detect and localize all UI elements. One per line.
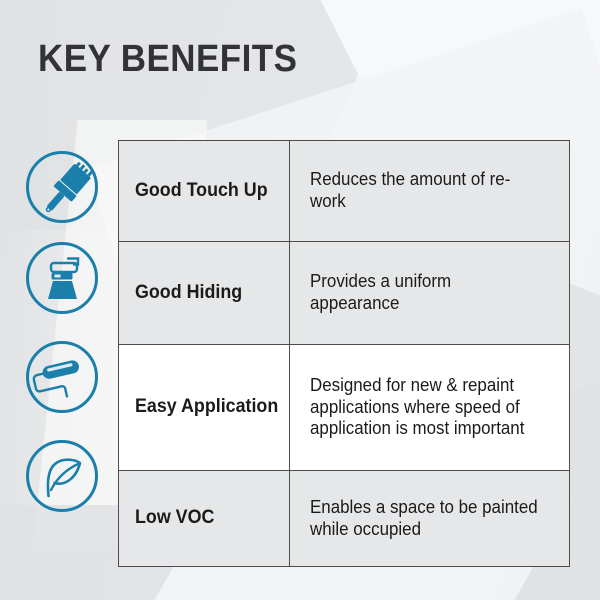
benefit-term-label: Good Hiding bbox=[135, 282, 280, 304]
benefit-description: Enables a space to be painted while occu… bbox=[290, 471, 570, 567]
benefit-term: Easy Application bbox=[119, 345, 290, 471]
benefit-term: Good Hiding bbox=[119, 242, 290, 345]
benefit-term: Low VOC bbox=[119, 471, 290, 567]
benefit-description: Reduces the amount of re-work bbox=[290, 141, 570, 242]
benefit-description-label: Designed for new & repaint applications … bbox=[310, 375, 540, 441]
benefit-description: Designed for new & repaint applications … bbox=[290, 345, 570, 471]
benefit-description-label: Reduces the amount of re-work bbox=[310, 169, 540, 213]
icon-column bbox=[18, 140, 106, 522]
page-title: KEY BENEFITS bbox=[38, 38, 297, 81]
table-row: Good Hiding Provides a uniform appearanc… bbox=[119, 242, 570, 345]
paint-brush-icon bbox=[24, 149, 100, 225]
benefit-term-label: Low VOC bbox=[135, 507, 280, 529]
benefit-term: Good Touch Up bbox=[119, 141, 290, 242]
benefit-description-label: Enables a space to be painted while occu… bbox=[310, 497, 540, 541]
table-row: Low VOC Enables a space to be painted wh… bbox=[119, 471, 570, 567]
table-row: Good Touch Up Reduces the amount of re-w… bbox=[119, 141, 570, 242]
leaf-icon bbox=[24, 438, 100, 514]
benefit-description: Provides a uniform appearance bbox=[290, 242, 570, 345]
benefits-table: Good Touch Up Reduces the amount of re-w… bbox=[118, 140, 570, 567]
benefit-term-label: Easy Application bbox=[135, 396, 280, 418]
benefit-term-label: Good Touch Up bbox=[135, 180, 280, 202]
benefits-infographic: KEY BENEFITS bbox=[0, 0, 600, 600]
benefit-description-label: Provides a uniform appearance bbox=[310, 271, 540, 315]
paint-roller-icon bbox=[24, 339, 100, 415]
table-row: Easy Application Designed for new & repa… bbox=[119, 345, 570, 471]
paint-roller-hiding-icon bbox=[24, 240, 100, 316]
